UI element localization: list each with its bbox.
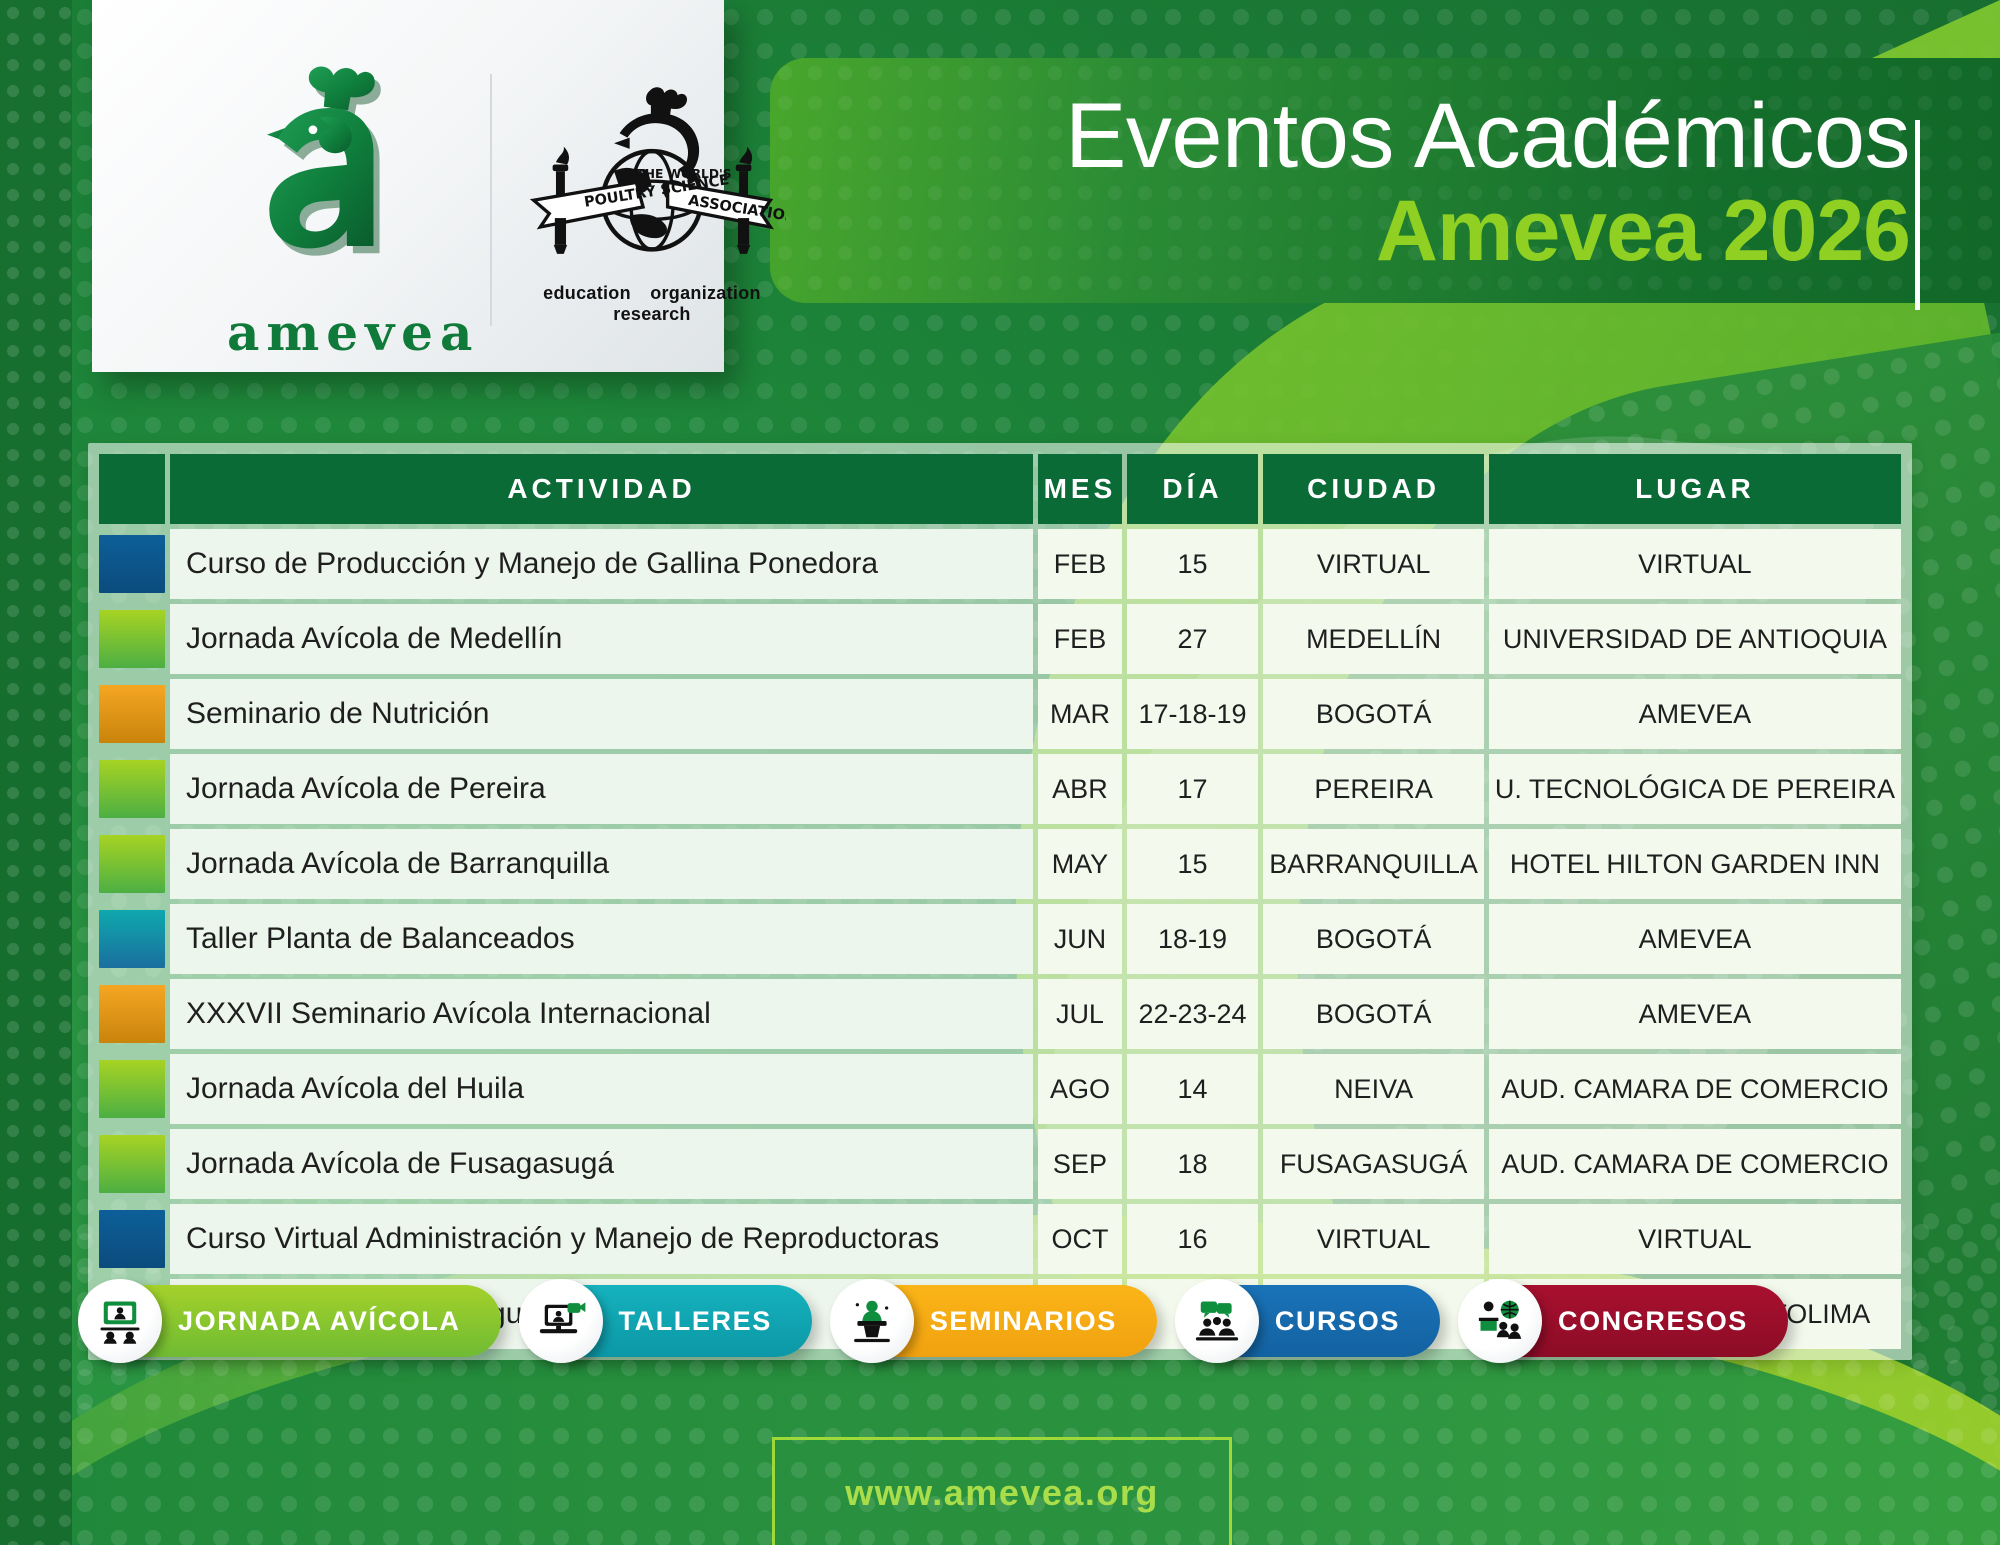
page-title: Eventos Académicos Amevea 2026 bbox=[850, 88, 1910, 276]
category-color-chip bbox=[99, 1210, 165, 1268]
title-vertical-rule bbox=[1915, 120, 1920, 310]
cell-mes: ABR bbox=[1038, 754, 1122, 824]
cell-ciudad: BOGOTÁ bbox=[1263, 979, 1484, 1049]
category-color-chip bbox=[99, 910, 165, 968]
cell-dia: 16 bbox=[1127, 1204, 1259, 1274]
cell-mes: OCT bbox=[1038, 1204, 1122, 1274]
table-row[interactable]: Jornada Avícola del HuilaAGO14NEIVAAUD. … bbox=[99, 1054, 1901, 1124]
cell-mes: FEB bbox=[1038, 529, 1122, 599]
table-row[interactable]: Jornada Avícola de MedellínFEB27MEDELLÍN… bbox=[99, 604, 1901, 674]
svg-text:THE WORLD'S: THE WORLD'S bbox=[636, 167, 731, 181]
amevea-wordmark: amevea bbox=[227, 303, 457, 362]
psa-logo: POULTRY SCIENCE ASSOCIATION THE WORLD'S bbox=[507, 84, 797, 325]
cell-lugar: AMEVEA bbox=[1489, 679, 1901, 749]
psa-caption-research: research bbox=[613, 304, 690, 324]
cell-mes: FEB bbox=[1038, 604, 1122, 674]
events-table: ACTIVIDAD MES DÍA CIUDAD LUGAR Curso de … bbox=[94, 449, 1906, 1354]
psa-caption-education: education bbox=[543, 283, 631, 303]
legend-pill-cursos[interactable]: CURSOS bbox=[1193, 1285, 1440, 1357]
cell-actividad: Jornada Avícola de Pereira bbox=[170, 754, 1033, 824]
row-category-swatch bbox=[99, 529, 165, 599]
category-color-chip bbox=[99, 535, 165, 593]
cell-ciudad: PEREIRA bbox=[1263, 754, 1484, 824]
row-category-swatch bbox=[99, 1204, 165, 1274]
cell-dia: 14 bbox=[1127, 1054, 1259, 1124]
cell-dia: 27 bbox=[1127, 604, 1259, 674]
row-category-swatch bbox=[99, 1129, 165, 1199]
category-color-chip bbox=[99, 985, 165, 1043]
table-header-lugar: LUGAR bbox=[1489, 454, 1901, 524]
category-color-chip bbox=[99, 685, 165, 743]
cell-mes: JUN bbox=[1038, 904, 1122, 974]
table-header-dia: DÍA bbox=[1127, 454, 1259, 524]
category-color-chip bbox=[99, 760, 165, 818]
legend-pill-seminarios[interactable]: SEMINARIOS bbox=[848, 1285, 1157, 1357]
table-row[interactable]: Curso Virtual Administración y Manejo de… bbox=[99, 1204, 1901, 1274]
legend-pill-label: CONGRESOS bbox=[1558, 1306, 1748, 1337]
cell-lugar: UNIVERSIDAD DE ANTIOQUIA bbox=[1489, 604, 1901, 674]
cell-dia: 18 bbox=[1127, 1129, 1259, 1199]
cell-dia: 18-19 bbox=[1127, 904, 1259, 974]
presentation-audience-icon bbox=[78, 1279, 162, 1363]
events-table-container: ACTIVIDAD MES DÍA CIUDAD LUGAR Curso de … bbox=[88, 443, 1912, 1360]
global-conference-icon bbox=[1458, 1279, 1542, 1363]
table-row[interactable]: Seminario de NutriciónMAR17-18-19BOGOTÁA… bbox=[99, 679, 1901, 749]
legend-pill-talleres[interactable]: TALLERES bbox=[537, 1285, 812, 1357]
legend-pill-label: SEMINARIOS bbox=[930, 1306, 1117, 1337]
category-color-chip bbox=[99, 1060, 165, 1118]
legend-row: JORNADA AVÍCOLATALLERESSEMINARIOSCURSOSC… bbox=[96, 1285, 1788, 1357]
cell-ciudad: NEIVA bbox=[1263, 1054, 1484, 1124]
table-header-ciudad: CIUDAD bbox=[1263, 454, 1484, 524]
row-category-swatch bbox=[99, 829, 165, 899]
table-body: Curso de Producción y Manejo de Gallina … bbox=[99, 529, 1901, 1349]
cell-lugar: U. TECNOLÓGICA DE PEREIRA bbox=[1489, 754, 1901, 824]
cell-actividad: Taller Planta de Balanceados bbox=[170, 904, 1033, 974]
table-head: ACTIVIDAD MES DÍA CIUDAD LUGAR bbox=[99, 454, 1901, 524]
title-line-secondary: Amevea 2026 bbox=[850, 186, 1910, 276]
table-row[interactable]: Jornada Avícola de FusagasugáSEP18FUSAGA… bbox=[99, 1129, 1901, 1199]
cell-mes: SEP bbox=[1038, 1129, 1122, 1199]
table-header-swatch-spacer bbox=[99, 454, 165, 524]
cell-mes: JUL bbox=[1038, 979, 1122, 1049]
category-color-chip bbox=[99, 1135, 165, 1193]
speaker-podium-icon bbox=[830, 1279, 914, 1363]
table-row[interactable]: XXXVII Seminario Avícola InternacionalJU… bbox=[99, 979, 1901, 1049]
cell-actividad: Curso de Producción y Manejo de Gallina … bbox=[170, 529, 1033, 599]
cell-actividad: Curso Virtual Administración y Manejo de… bbox=[170, 1204, 1033, 1274]
table-row[interactable]: Jornada Avícola de BarranquillaMAY15BARR… bbox=[99, 829, 1901, 899]
cell-dia: 15 bbox=[1127, 829, 1259, 899]
poultry-science-association-seal-icon: POULTRY SCIENCE ASSOCIATION THE WORLD'S bbox=[518, 261, 786, 278]
legend-pill-jornada-av-cola[interactable]: JORNADA AVÍCOLA bbox=[96, 1285, 501, 1357]
table-row[interactable]: Jornada Avícola de PereiraABR17PEREIRAU.… bbox=[99, 754, 1901, 824]
cell-dia: 17-18-19 bbox=[1127, 679, 1259, 749]
cell-ciudad: BOGOTÁ bbox=[1263, 904, 1484, 974]
cell-ciudad: VIRTUAL bbox=[1263, 1204, 1484, 1274]
cell-ciudad: VIRTUAL bbox=[1263, 529, 1484, 599]
row-category-swatch bbox=[99, 604, 165, 674]
cell-lugar: AUD. CAMARA DE COMERCIO bbox=[1489, 1129, 1901, 1199]
legend-pill-congresos[interactable]: CONGRESOS bbox=[1476, 1285, 1788, 1357]
row-category-swatch bbox=[99, 979, 165, 1049]
cell-dia: 15 bbox=[1127, 529, 1259, 599]
cell-actividad: Jornada Avícola de Fusagasugá bbox=[170, 1129, 1033, 1199]
cell-dia: 22-23-24 bbox=[1127, 979, 1259, 1049]
cell-mes: AGO bbox=[1038, 1054, 1122, 1124]
cell-actividad: Jornada Avícola de Barranquilla bbox=[170, 829, 1033, 899]
cell-ciudad: MEDELLÍN bbox=[1263, 604, 1484, 674]
table-row[interactable]: Taller Planta de BalanceadosJUN18-19BOGO… bbox=[99, 904, 1901, 974]
cell-actividad: XXXVII Seminario Avícola Internacional bbox=[170, 979, 1033, 1049]
logo-card: amevea bbox=[92, 0, 724, 372]
cell-lugar: AMEVEA bbox=[1489, 979, 1901, 1049]
footer-url-box: www.amevea.org bbox=[772, 1437, 1232, 1545]
row-category-swatch bbox=[99, 679, 165, 749]
psa-caption: education organization research bbox=[507, 283, 797, 325]
cell-dia: 17 bbox=[1127, 754, 1259, 824]
background-left-strip-dots bbox=[0, 0, 72, 1545]
cell-ciudad: FUSAGASUGÁ bbox=[1263, 1129, 1484, 1199]
cell-mes: MAR bbox=[1038, 679, 1122, 749]
legend-pill-label: JORNADA AVÍCOLA bbox=[178, 1306, 461, 1337]
cell-ciudad: BARRANQUILLA bbox=[1263, 829, 1484, 899]
website-url[interactable]: www.amevea.org bbox=[845, 1472, 1159, 1514]
amevea-logo: amevea bbox=[227, 62, 457, 362]
poster-canvas: Eventos Académicos Amevea 2026 bbox=[0, 0, 2000, 1545]
row-category-swatch bbox=[99, 754, 165, 824]
cell-lugar: AUD. CAMARA DE COMERCIO bbox=[1489, 1054, 1901, 1124]
psa-caption-organization: organization bbox=[650, 283, 761, 303]
table-header-row: ACTIVIDAD MES DÍA CIUDAD LUGAR bbox=[99, 454, 1901, 524]
title-line-primary: Eventos Académicos bbox=[850, 88, 1910, 184]
logo-divider bbox=[490, 74, 492, 326]
cell-mes: MAY bbox=[1038, 829, 1122, 899]
category-color-chip bbox=[99, 835, 165, 893]
row-category-swatch bbox=[99, 904, 165, 974]
cell-actividad: Seminario de Nutrición bbox=[170, 679, 1033, 749]
cell-ciudad: BOGOTÁ bbox=[1263, 679, 1484, 749]
table-header-mes: MES bbox=[1038, 454, 1122, 524]
table-row[interactable]: Curso de Producción y Manejo de Gallina … bbox=[99, 529, 1901, 599]
group-chat-icon bbox=[1175, 1279, 1259, 1363]
category-color-chip bbox=[99, 610, 165, 668]
cell-lugar: VIRTUAL bbox=[1489, 529, 1901, 599]
cell-lugar: HOTEL HILTON GARDEN INN bbox=[1489, 829, 1901, 899]
cell-lugar: VIRTUAL bbox=[1489, 1204, 1901, 1274]
cell-actividad: Jornada Avícola de Medellín bbox=[170, 604, 1033, 674]
rooster-letter-a-icon bbox=[257, 279, 427, 296]
laptop-video-call-icon bbox=[519, 1279, 603, 1363]
table-header-actividad: ACTIVIDAD bbox=[170, 454, 1033, 524]
cell-lugar: AMEVEA bbox=[1489, 904, 1901, 974]
cell-actividad: Jornada Avícola del Huila bbox=[170, 1054, 1033, 1124]
legend-pill-label: TALLERES bbox=[619, 1306, 772, 1337]
legend-pill-label: CURSOS bbox=[1275, 1306, 1400, 1337]
row-category-swatch bbox=[99, 1054, 165, 1124]
